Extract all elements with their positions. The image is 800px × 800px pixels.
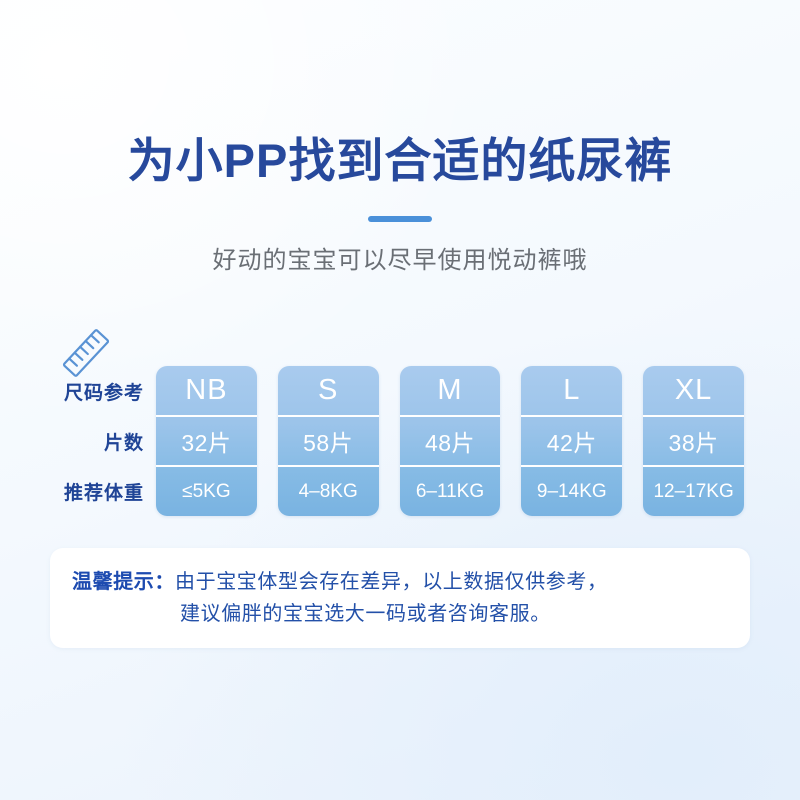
- size-card-nb[interactable]: NB 32片 ≤5KG: [156, 366, 257, 516]
- size-card-m[interactable]: M 48片 6–11KG: [400, 366, 501, 516]
- count-value: 38片: [643, 415, 744, 466]
- header: 为小PP找到合适的纸尿裤 好动的宝宝可以尽早使用悦动裤哦: [0, 132, 800, 278]
- tip-text: 温馨提示：由于宝宝体型会存在差异，以上数据仅供参考， 建议偏胖的宝宝选大一码或者…: [72, 566, 608, 630]
- page-subtitle: 好动的宝宝可以尽早使用悦动裤哦: [0, 244, 800, 278]
- count-value: 58片: [278, 415, 379, 466]
- size-label: XL: [643, 366, 744, 415]
- size-label: M: [400, 366, 501, 415]
- count-value: 32片: [156, 415, 257, 466]
- tip-line-1: 由于宝宝体型会存在差异，以上数据仅供参考，: [175, 571, 608, 593]
- row-label-size: 尺码参考: [44, 366, 156, 416]
- size-label: NB: [156, 366, 257, 415]
- size-card-s[interactable]: S 58片 4–8KG: [278, 366, 379, 516]
- weight-value: 9–14KG: [521, 465, 622, 516]
- count-value: 48片: [400, 415, 501, 466]
- weight-value: 4–8KG: [278, 465, 379, 516]
- weight-value: 6–11KG: [400, 465, 501, 516]
- row-label-count: 片数: [44, 416, 156, 466]
- size-card-list: NB 32片 ≤5KG S 58片 4–8KG M 48片 6–11KG L 4…: [156, 366, 744, 516]
- size-label: L: [521, 366, 622, 415]
- weight-value: ≤5KG: [156, 465, 257, 516]
- size-reference-table: 尺码参考 片数 推荐体重 NB 32片 ≤5KG S 58片 4–8KG M 4…: [44, 366, 744, 516]
- tip-box: 温馨提示：由于宝宝体型会存在差异，以上数据仅供参考， 建议偏胖的宝宝选大一码或者…: [50, 548, 750, 648]
- tip-line-2: 建议偏胖的宝宝选大一码或者咨询客服。: [72, 598, 608, 630]
- title-divider: [368, 216, 432, 222]
- size-label: S: [278, 366, 379, 415]
- promo-page: 为小PP找到合适的纸尿裤 好动的宝宝可以尽早使用悦动裤哦 尺码参考 片数 推荐体…: [0, 0, 800, 800]
- row-label-column: 尺码参考 片数 推荐体重: [44, 366, 156, 516]
- tip-label: 温馨提示：: [72, 571, 175, 593]
- page-title: 为小PP找到合适的纸尿裤: [0, 132, 800, 190]
- size-card-xl[interactable]: XL 38片 12–17KG: [643, 366, 744, 516]
- count-value: 42片: [521, 415, 622, 466]
- row-label-weight: 推荐体重: [44, 466, 156, 516]
- size-card-l[interactable]: L 42片 9–14KG: [521, 366, 622, 516]
- weight-value: 12–17KG: [643, 465, 744, 516]
